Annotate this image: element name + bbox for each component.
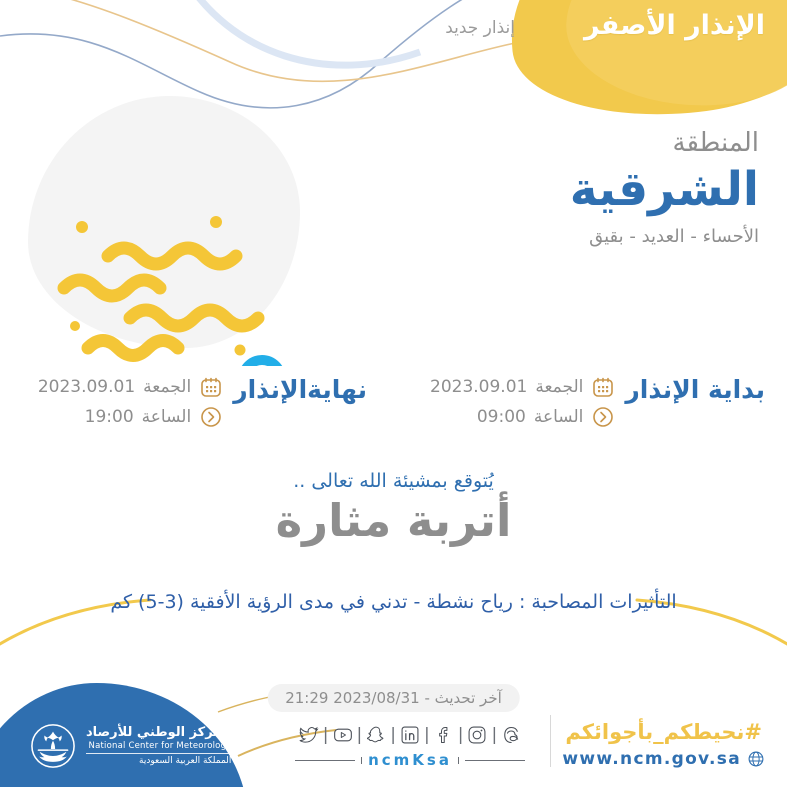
dust-illustration [28,96,328,366]
social-separator: | [319,725,333,745]
org-country: المملكة العربية السعودية [86,756,231,767]
last-update-badge: آخر تحديث - 2023/08/31 21:29 [267,684,520,712]
campaign-hashtag: #نحيطكم_بأجوائكم [562,720,765,744]
social-separator: | [386,725,400,745]
website-url[interactable]: www.ncm.gov.sa [562,749,741,769]
org-name-en: National Center for Meteorology [86,741,231,754]
region-cities: الأحساء - العديد - بقيق [339,226,759,247]
alert-end-date-label: الجمعة [143,377,191,397]
alert-end-block: نهايةالإنذار الجمعة 2023.09.01 [38,372,367,429]
forecast-block: يُتوقع بمشيئة الله تعالى .. أتربة مثارة [0,470,787,547]
calendar-icon [591,375,615,399]
dust-wave-lines [64,248,258,356]
threads-icon[interactable] [501,725,521,745]
alert-end-title: نهايةالإنذار [233,372,367,408]
handle-line-right [465,760,525,761]
handle-line-left [295,760,355,761]
alert-end-time-label: الساعة [142,407,192,427]
curve-blue-line [0,0,520,108]
dust-ring-icon [243,360,281,366]
alert-start-title: بداية الإنذار [625,372,765,408]
new-alert-label: إنذار جديد [445,18,515,38]
alert-start-date-label: الجمعة [535,377,583,397]
social-separator: | [487,725,501,745]
region-name: الشرقية [339,161,759,220]
forecast-impacts: التأثيرات المصاحبة : رياح نشطة - تدني في… [70,586,717,619]
clock-icon [591,405,615,429]
linkedin-icon[interactable] [400,725,420,745]
snapchat-icon[interactable] [366,725,386,745]
saudi-emblem-icon [30,723,76,769]
ncm-logo: المركز الوطني للأرصاد National Center fo… [30,723,231,769]
social-handle-row: ncmKsa [295,751,525,769]
website-row[interactable]: www.ncm.gov.sa [562,749,765,769]
social-block: | | | | | [295,725,525,769]
alert-end-time-row: الساعة 19:00 [38,405,223,429]
instagram-icon[interactable] [467,725,487,745]
globe-icon [747,750,765,768]
region-block: المنطقة الشرقية الأحساء - العديد - بقيق [339,128,759,247]
alert-start-time-value: 09:00 [477,407,526,427]
alert-level-label: الإنذار الأصفر [584,10,765,41]
region-label: المنطقة [339,128,759,159]
weather-alert-card: الإنذار الأصفر إنذار جديد المنطقة الشرقي… [0,0,787,787]
youtube-icon[interactable] [333,725,353,745]
footer-divider [550,715,551,767]
social-separator: | [454,725,468,745]
org-name-ar: المركز الوطني للأرصاد [86,725,231,741]
contact-block: #نحيطكم_بأجوائكم www.ncm.gov.sa [562,720,765,769]
alert-end-date-value: 2023.09.01 [38,377,135,397]
social-icons-row: | | | | | [295,725,525,745]
alert-times: بداية الإنذار الجمعة 2023.09.01 [0,372,787,452]
handle-cap-right [458,757,459,764]
handle-cap-left [361,757,362,764]
alert-start-time-label: الساعة [534,407,584,427]
alert-end-date-row: الجمعة 2023.09.01 [38,375,223,399]
alert-start-date-row: الجمعة 2023.09.01 [430,375,615,399]
alert-start-time-row: الساعة 09:00 [430,405,615,429]
alert-start-block: بداية الإنذار الجمعة 2023.09.01 [430,372,765,429]
clock-icon [199,405,223,429]
forecast-phenomenon: أتربة مثارة [0,494,787,547]
calendar-icon [199,375,223,399]
twitter-icon[interactable] [299,725,319,745]
forecast-subtitle: يُتوقع بمشيئة الله تعالى .. [0,470,787,492]
curve-gold-line [0,0,520,81]
social-separator: | [420,725,434,745]
alert-end-time-value: 19:00 [85,407,134,427]
curve-lightblue-arc [180,0,420,65]
alert-start-date-value: 2023.09.01 [430,377,527,397]
facebook-icon[interactable] [434,725,454,745]
social-handle[interactable]: ncmKsa [368,751,452,769]
social-separator: | [353,725,367,745]
